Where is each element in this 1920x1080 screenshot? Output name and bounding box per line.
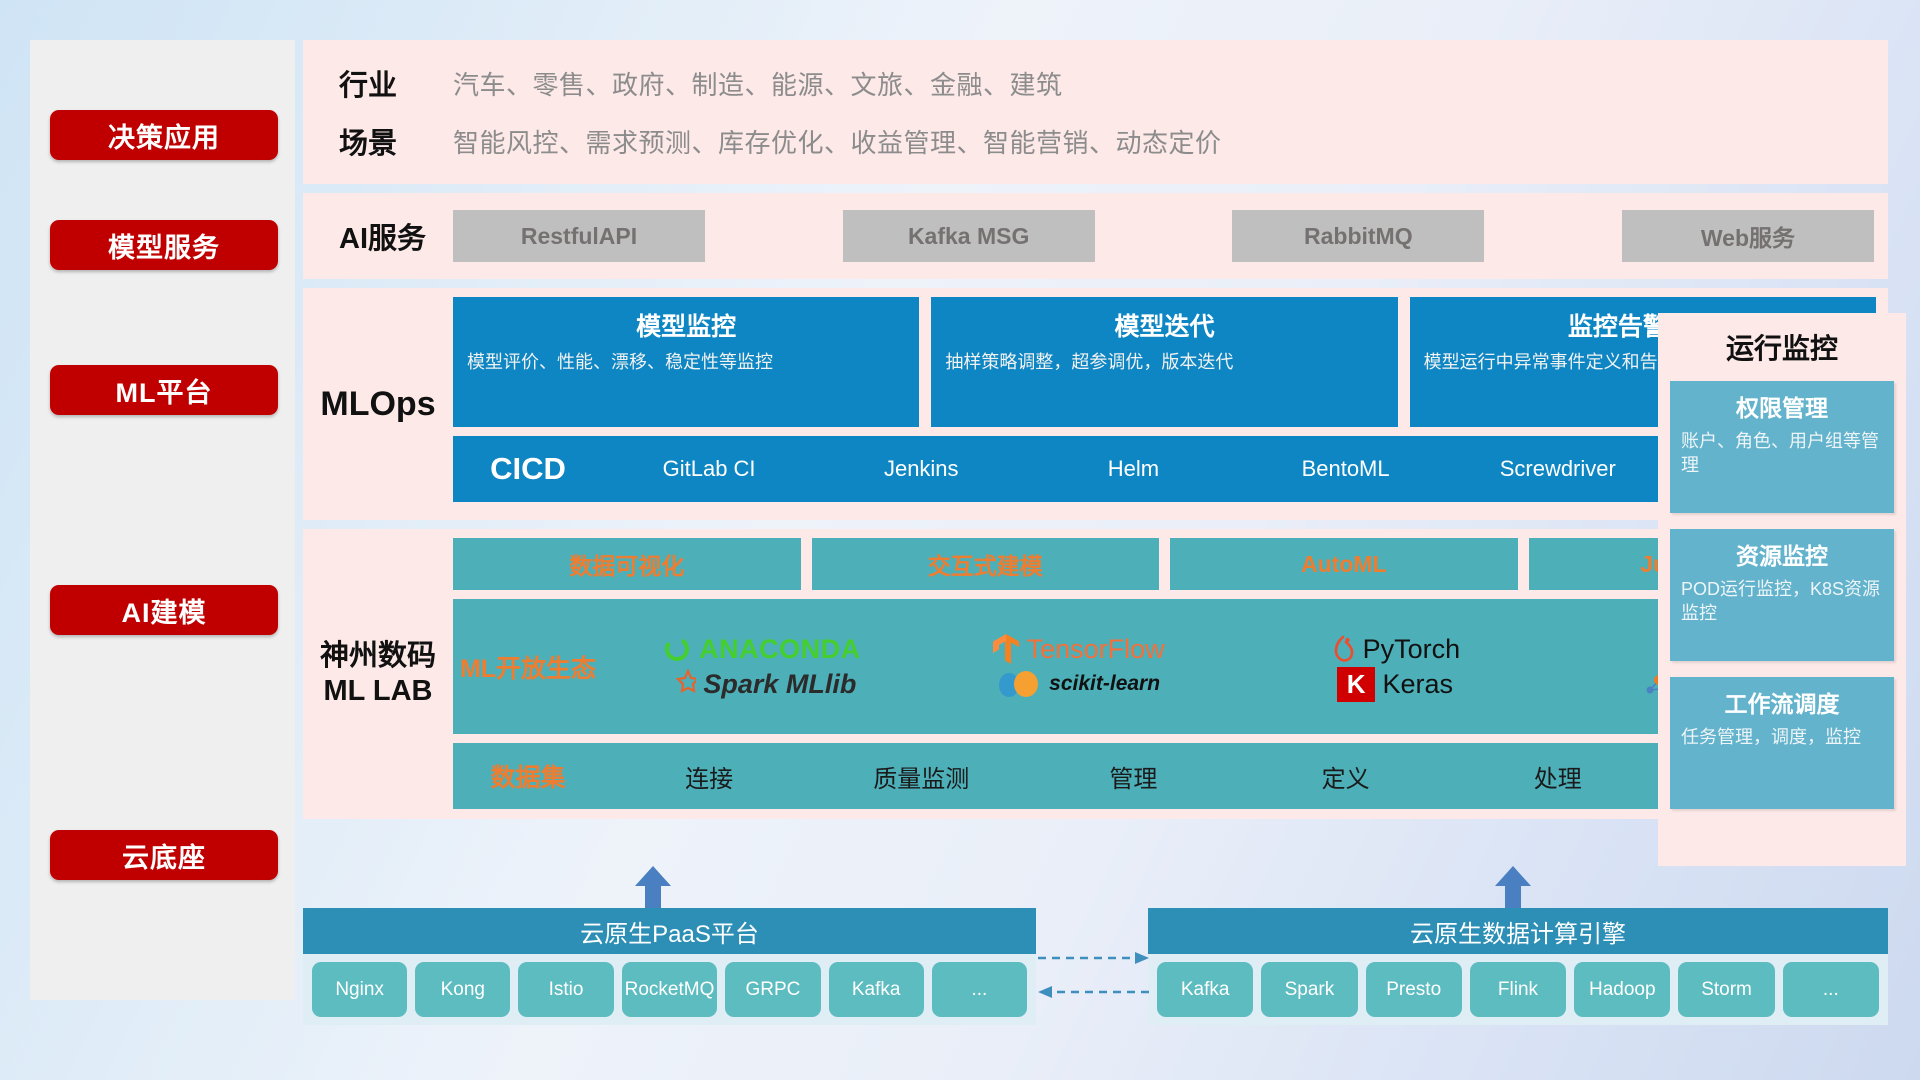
keras-label: Keras [1382,669,1453,700]
paas-platform-title: 云原生PaaS平台 [303,908,1036,954]
ai-service-chip-web-service[interactable]: Web服务 [1622,210,1874,262]
engine-chip-hadoop[interactable]: Hadoop [1574,962,1670,1017]
pytorch-logo: PyTorch [1330,634,1461,665]
monitor-card-permission[interactable]: 权限管理 账户、角色、用户组等管理 [1670,381,1894,513]
cicd-item-jenkins[interactable]: Jenkins [815,455,1027,483]
ai-service-chip-kafka-msg[interactable]: Kafka MSG [843,210,1095,262]
sidebar-item-ml-platform[interactable]: ML平台 [50,365,278,415]
ml-lab-label-line1: 神州数码 [320,639,436,674]
scikit-learn-label: scikit-learn [1049,672,1160,696]
sidebar-item-label: 云底座 [122,836,206,875]
scikit-learn-logo: scikit-learn [996,668,1160,700]
ai-service-label: AI服务 [303,215,453,257]
dataset-title: 数据集 [453,758,603,794]
monitor-card-resource[interactable]: 资源监控 POD运行监控，K8S资源监控 [1670,529,1894,661]
industry-values: 汽车、零售、政府、制造、能源、文旅、金融、建筑 [453,65,1063,102]
card-title: 权限管理 [1681,389,1883,423]
paas-chip-nginx[interactable]: Nginx [312,962,407,1017]
sidebar-item-label: ML平台 [116,371,213,410]
monitor-card-workflow[interactable]: 工作流调度 任务管理，调度，监控 [1670,677,1894,809]
paas-chip-kafka[interactable]: Kafka [829,962,924,1017]
sector-scenario-band: 行业 汽车、零售、政府、制造、能源、文旅、金融、建筑 场景 智能风控、需求预测、… [303,40,1888,184]
dataset-item-connect[interactable]: 连接 [603,759,815,794]
sidebar-item-label: 模型服务 [108,226,220,265]
runtime-monitoring-panel: 运行监控 权限管理 账户、角色、用户组等管理 资源监控 POD运行监控，K8S资… [1658,313,1906,866]
mlops-card-model-iteration[interactable]: 模型迭代 抽样策略调整，超参调优，版本迭代 [931,297,1397,427]
mlops-label: MLOps [303,288,453,520]
sidebar-item-cloud-base[interactable]: 云底座 [50,830,278,880]
tab-data-visualization[interactable]: 数据可视化 [453,538,801,590]
card-title: 模型监控 [467,307,905,343]
cloud-foundation-layer: 云原生PaaS平台 Nginx Kong Istio RocketMQ GRPC… [303,884,1888,1020]
paas-up-arrow-icon [633,866,673,910]
cicd-title: CICD [453,451,603,487]
card-desc: 账户、角色、用户组等管理 [1681,429,1883,478]
sidebar-item-label: AI建模 [122,591,207,630]
data-compute-engine-group: 云原生数据计算引擎 Kafka Spark Presto Flink Hadoo… [1148,908,1888,1025]
anaconda-logo: ANACONDA [662,634,861,665]
pytorch-label: PyTorch [1363,634,1461,665]
runtime-monitoring-title: 运行监控 [1670,327,1894,367]
pytorch-icon [1330,634,1356,664]
ml-lab-label-line2: ML LAB [323,674,432,709]
industry-row: 行业 汽车、零售、政府、制造、能源、文旅、金融、建筑 [303,62,1888,104]
scenario-row: 场景 智能风控、需求预测、库存优化、收益管理、智能营销、动态定价 [303,120,1888,162]
ml-ecosystem-title: ML开放生态 [453,649,603,685]
paas-chip-grpc[interactable]: GRPC [725,962,820,1017]
data-compute-engine-title: 云原生数据计算引擎 [1148,908,1888,954]
spark-mllib-logo: Spark MLlib [666,669,856,700]
paas-chip-rocketmq[interactable]: RocketMQ [622,962,718,1017]
engine-chip-more[interactable]: ... [1783,962,1879,1017]
sidebar-item-decision-app[interactable]: 决策应用 [50,110,278,160]
engine-up-arrow-icon [1493,866,1533,910]
engine-chip-storm[interactable]: Storm [1678,962,1774,1017]
ml-lab-label: 神州数码 ML LAB [303,529,453,819]
card-title: 模型迭代 [945,307,1383,343]
spark-star-icon [666,669,696,699]
cicd-item-bentoml[interactable]: BentoML [1240,455,1452,483]
card-desc: POD运行监控，K8S资源监控 [1681,577,1883,626]
paas-chip-more[interactable]: ... [932,962,1027,1017]
architecture-main-column: 行业 汽车、零售、政府、制造、能源、文旅、金融、建筑 场景 智能风控、需求预测、… [303,40,1888,819]
keras-icon: K [1337,667,1376,702]
ml-lab-band: 神州数码 ML LAB 数据可视化 交互式建模 AutoML JupyterLa… [303,529,1888,819]
card-desc: 模型评价、性能、漂移、稳定性等监控 [467,350,905,374]
paas-chip-kong[interactable]: Kong [415,962,510,1017]
sidebar-item-ai-modeling[interactable]: AI建模 [50,585,278,635]
engine-chip-kafka[interactable]: Kafka [1157,962,1253,1017]
paas-chip-list: Nginx Kong Istio RocketMQ GRPC Kafka ... [303,954,1036,1025]
tensorflow-icon [992,633,1020,665]
tensorflow-label: TensorFlow [1027,634,1165,665]
scenario-values: 智能风控、需求预测、库存优化、收益管理、智能营销、动态定价 [453,123,1222,160]
tab-interactive-modeling[interactable]: 交互式建模 [812,538,1160,590]
industry-label: 行业 [303,62,453,104]
dataset-item-quality[interactable]: 质量监测 [815,759,1027,794]
scenario-label: 场景 [303,120,453,162]
sidebar-item-model-service[interactable]: 模型服务 [50,220,278,270]
card-title: 资源监控 [1681,537,1883,571]
paas-platform-group: 云原生PaaS平台 Nginx Kong Istio RocketMQ GRPC… [303,908,1036,1025]
anaconda-icon [662,634,692,664]
engine-chip-flink[interactable]: Flink [1470,962,1566,1017]
card-title: 工作流调度 [1681,685,1883,719]
mlops-card-model-monitoring[interactable]: 模型监控 模型评价、性能、漂移、稳定性等监控 [453,297,919,427]
engine-chip-spark[interactable]: Spark [1261,962,1357,1017]
paas-chip-istio[interactable]: Istio [518,962,613,1017]
scikit-learn-icon [996,668,1042,700]
dataset-item-manage[interactable]: 管理 [1027,759,1239,794]
sidebar-item-label: 决策应用 [108,116,220,155]
spark-mllib-label: Spark MLlib [703,669,856,700]
cicd-item-screwdriver[interactable]: Screwdriver [1452,455,1664,483]
dataset-item-process[interactable]: 处理 [1452,759,1664,794]
ai-service-chip-rabbitmq[interactable]: RabbitMQ [1232,210,1484,262]
left-layer-rail: 决策应用 模型服务 ML平台 AI建模 云底座 [30,40,295,1000]
ai-service-band: AI服务 RestfulAPI Kafka MSG RabbitMQ Web服务 [303,193,1888,279]
mlops-band: MLOps 模型监控 模型评价、性能、漂移、稳定性等监控 模型迭代 抽样策略调整… [303,288,1888,520]
cicd-item-helm[interactable]: Helm [1027,455,1239,483]
tensorflow-logo: TensorFlow [992,633,1165,665]
dataset-item-define[interactable]: 定义 [1240,759,1452,794]
engine-chip-list: Kafka Spark Presto Flink Hadoop Storm ..… [1148,954,1888,1025]
tab-automl[interactable]: AutoML [1170,538,1518,590]
cicd-item-gitlab-ci[interactable]: GitLab CI [603,455,815,483]
card-desc: 抽样策略调整，超参调优，版本迭代 [945,350,1383,374]
ai-service-chip-restfulapi[interactable]: RestfulAPI [453,210,705,262]
ai-service-chip-list: RestfulAPI Kafka MSG RabbitMQ Web服务 [453,210,1888,262]
card-desc: 任务管理，调度，监控 [1681,725,1883,749]
bidirectional-dashed-connector-icon [1036,946,1151,1006]
keras-logo: K Keras [1337,667,1453,702]
engine-chip-presto[interactable]: Presto [1366,962,1462,1017]
anaconda-label: ANACONDA [699,634,861,665]
